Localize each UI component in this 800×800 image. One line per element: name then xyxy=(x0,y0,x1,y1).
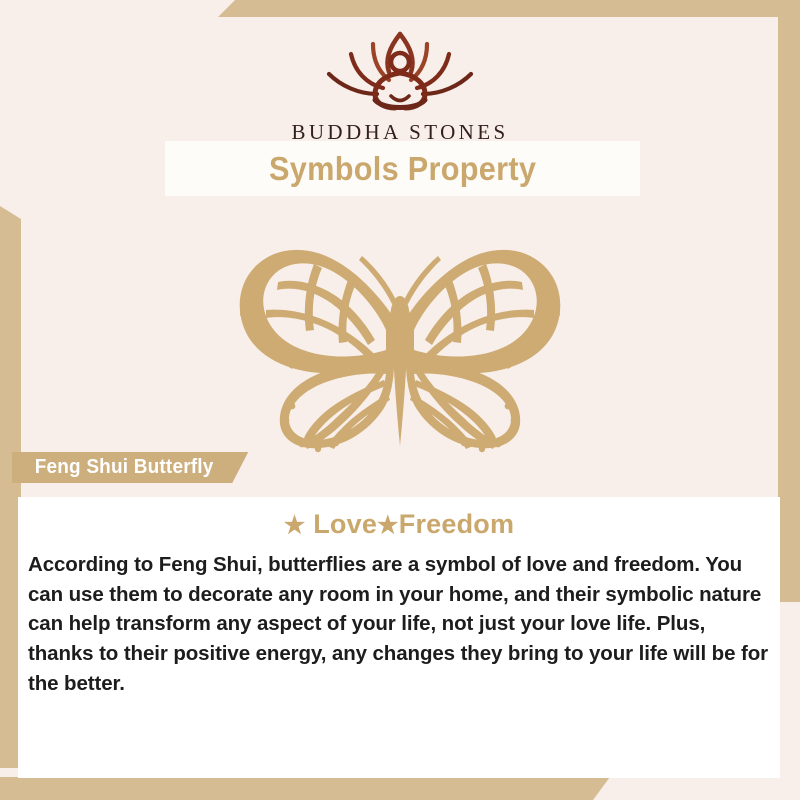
brand-logo: BUDDHA STONES xyxy=(0,22,800,145)
body-paragraph: According to Feng Shui, butterflies are … xyxy=(28,550,772,699)
butterfly-icon xyxy=(218,238,582,453)
title-banner: Symbols Property xyxy=(165,141,640,196)
tagline-word-freedom: Freedom xyxy=(399,509,514,539)
tagline: ★ Love★Freedom xyxy=(18,509,780,540)
decorative-bottom-bar xyxy=(0,777,610,800)
poster-canvas: BUDDHA STONES Symbols Property xyxy=(0,0,800,800)
decorative-top-bar xyxy=(218,0,800,17)
lotus-meditation-icon xyxy=(305,22,495,118)
page-title: Symbols Property xyxy=(269,150,536,188)
section-tab-label: Feng Shui Butterfly xyxy=(35,456,214,479)
tagline-word-love: Love xyxy=(313,509,377,539)
star-icon-middle: ★ xyxy=(377,512,399,539)
section-tab-feng-shui-butterfly: Feng Shui Butterfly xyxy=(12,452,248,483)
content-panel: ★ Love★Freedom According to Feng Shui, b… xyxy=(18,497,780,778)
butterfly-illustration xyxy=(218,238,582,453)
star-icon-left: ★ xyxy=(284,512,306,539)
